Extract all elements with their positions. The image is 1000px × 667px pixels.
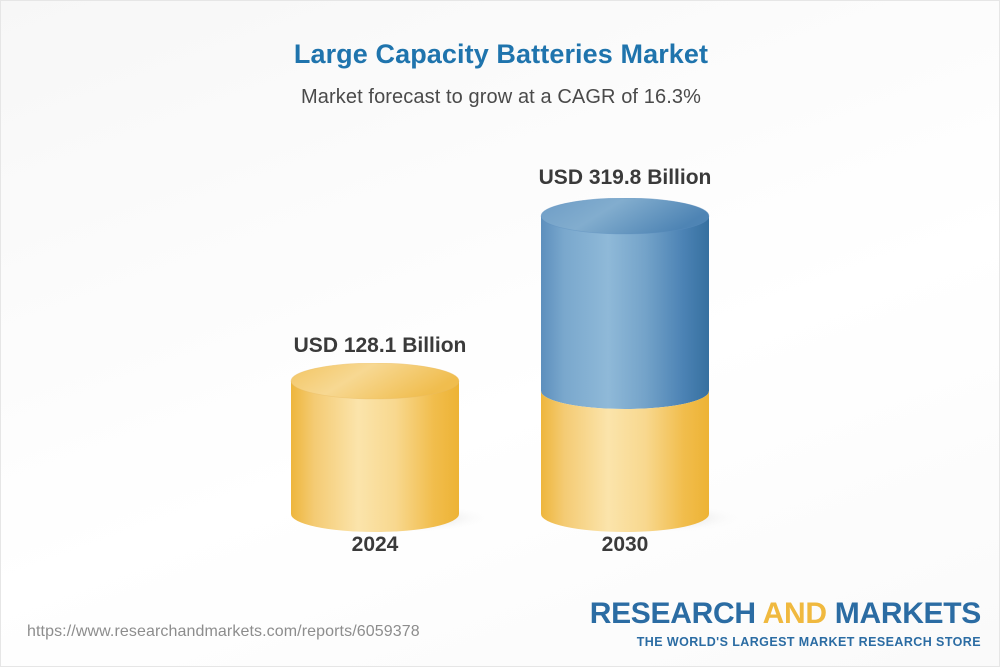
cylinder-segment-gold-2030: [541, 391, 709, 532]
source-url[interactable]: https://www.researchandmarkets.com/repor…: [27, 623, 420, 641]
chart-plot-area: USD 128.1 Billion USD 319.8 Billion: [1, 1, 1000, 667]
bar-cylinder-2024: [283, 363, 493, 538]
x-axis-tick-2030: 2030: [530, 533, 720, 557]
logo-text-and: AND: [763, 597, 827, 630]
value-label-2024: USD 128.1 Billion: [285, 334, 475, 358]
logo-tagline: THE WORLD'S LARGEST MARKET RESEARCH STOR…: [590, 636, 981, 649]
logo-text-markets: MARKETS: [827, 597, 981, 630]
cylinder-segment-blue-2030: [541, 216, 709, 409]
value-label-2030: USD 319.8 Billion: [530, 166, 720, 190]
research-and-markets-logo: RESEARCH AND MARKETS THE WORLD'S LARGEST…: [590, 599, 981, 649]
x-axis-tick-2024: 2024: [280, 533, 470, 557]
logo-wordmark: RESEARCH AND MARKETS: [590, 599, 981, 629]
cylinder-body-2024: [291, 381, 459, 532]
chart-canvas: Large Capacity Batteries Market Market f…: [0, 0, 1000, 667]
bar-cylinder-2030: [533, 198, 743, 538]
logo-text-research: RESEARCH: [590, 597, 763, 630]
